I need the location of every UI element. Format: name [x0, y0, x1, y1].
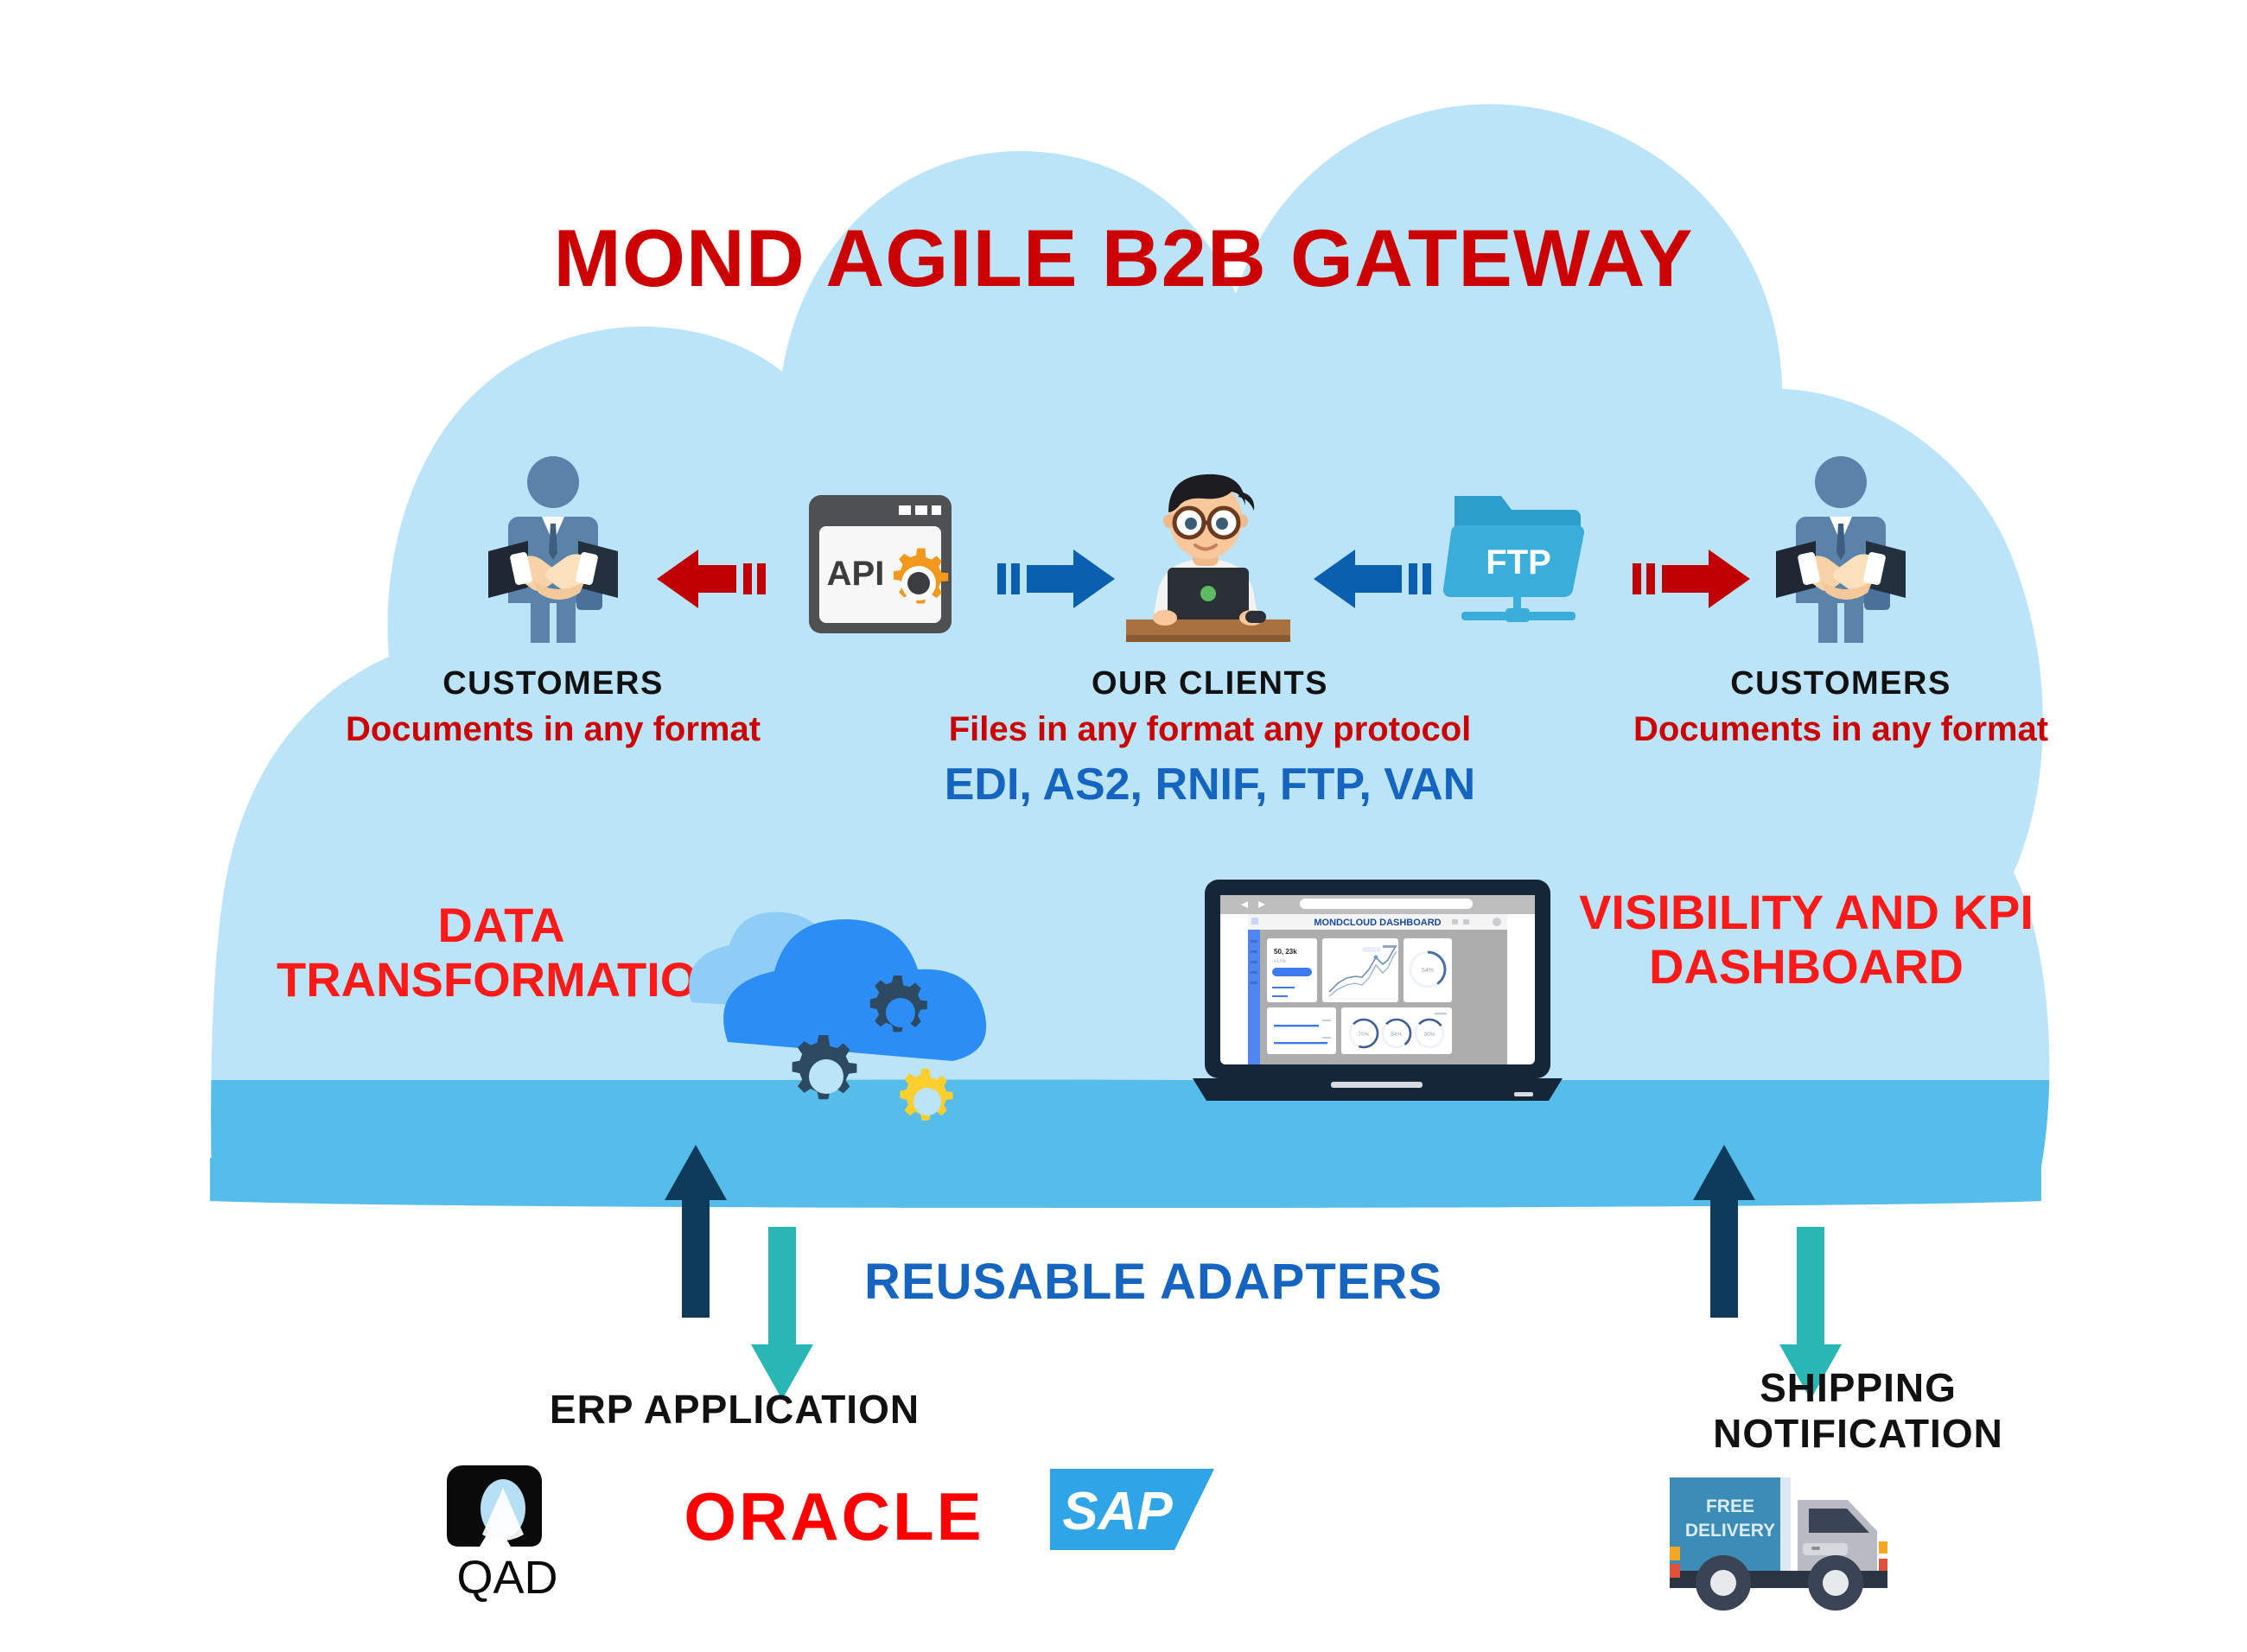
left-customer-figure	[471, 449, 635, 648]
left-actor-subtitle: Documents in any format	[320, 710, 786, 749]
svg-text:50, 23k: 50, 23k	[1274, 948, 1297, 956]
erp-application-label: ERP APPLICATION	[467, 1387, 1003, 1433]
svg-text:70%: 70%	[1358, 1032, 1369, 1038]
visibility-line2: DASHBOARD	[1573, 940, 2040, 994]
red-arrow-right-icon	[1629, 544, 1750, 613]
down-arrow-teal-icon-left	[748, 1227, 817, 1400]
visibility-kpi-label: VISIBILITY AND KPI DASHBOARD	[1573, 886, 2040, 994]
svg-text:FTP: FTP	[1486, 543, 1551, 581]
reusable-adapters-label: REUSABLE ADAPTERS	[864, 1253, 1417, 1311]
up-arrow-navy-icon-left	[661, 1145, 730, 1318]
qad-logo: QAD	[436, 1460, 583, 1603]
svg-text:+1.5%: +1.5%	[1274, 959, 1287, 964]
data-transformation-line2: TRANSFORMATION	[277, 953, 726, 1007]
svg-text:MONDCLOUD DASHBOARD: MONDCLOUD DASHBOARD	[1314, 918, 1441, 928]
svg-text:DELIVERY: DELIVERY	[1685, 1521, 1775, 1541]
cloud-gears-icon	[665, 873, 1028, 1149]
svg-text:54%: 54%	[1391, 1032, 1402, 1038]
visibility-line1: VISIBILITY AND KPI	[1573, 886, 2040, 940]
developer-at-laptop-icon	[1111, 462, 1301, 648]
businessman-handshake-icon	[1759, 449, 1923, 648]
shipping-notification-label: SHIPPING NOTIFICATION	[1625, 1365, 2091, 1457]
right-actor-title: CUSTOMERS	[1633, 665, 2048, 702]
blue-arrow-left-icon	[1314, 544, 1435, 613]
laptop-dashboard-icon: MONDCLOUD DASHBOARD 50, 23k +1.5%	[1193, 873, 1607, 1132]
right-actor-subtitle: Documents in any format	[1607, 710, 2074, 749]
left-actor-title: CUSTOMERS	[346, 665, 761, 702]
oracle-logo: ORACLE	[631, 1477, 1037, 1555]
center-actor-title: OUR CLIENTS	[994, 665, 1426, 702]
oracle-logo-text: ORACLE	[631, 1477, 1037, 1555]
svg-text:SAP: SAP	[1062, 1482, 1173, 1541]
center-actor-subtitle: Files in any format any protocol	[933, 710, 1486, 749]
data-transformation-label: DATA TRANSFORMATION	[277, 899, 726, 1007]
shipping-line1: SHIPPING	[1625, 1365, 2091, 1411]
svg-text:FREE: FREE	[1706, 1496, 1754, 1516]
svg-text:54%: 54%	[1422, 968, 1434, 974]
right-customer-figure	[1759, 449, 1923, 648]
blue-arrow-right-icon	[994, 544, 1115, 613]
businessman-handshake-icon	[471, 449, 635, 648]
red-arrow-left-icon	[657, 544, 778, 613]
center-actor-protocols: EDI, AS2, RNIF, FTP, VAN	[916, 759, 1504, 810]
diagram-canvas: MOND AGILE B2B GATEWAY	[0, 0, 2247, 1652]
shipping-line2: NOTIFICATION	[1625, 1411, 2091, 1457]
up-arrow-navy-icon-right	[1690, 1145, 1759, 1318]
api-window-gear-icon: API	[802, 488, 983, 644]
svg-text:QAD: QAD	[456, 1552, 557, 1603]
data-transformation-line1: DATA	[277, 899, 726, 953]
svg-text:30%: 30%	[1423, 1032, 1435, 1038]
ftp-folder-network-icon: FTP	[1439, 477, 1603, 641]
page-title: MOND AGILE B2B GATEWAY	[0, 212, 2247, 305]
svg-text:API: API	[827, 555, 885, 593]
delivery-truck-icon: FREE DELIVERY	[1651, 1460, 1936, 1616]
sap-logo: SAP	[1050, 1469, 1223, 1555]
